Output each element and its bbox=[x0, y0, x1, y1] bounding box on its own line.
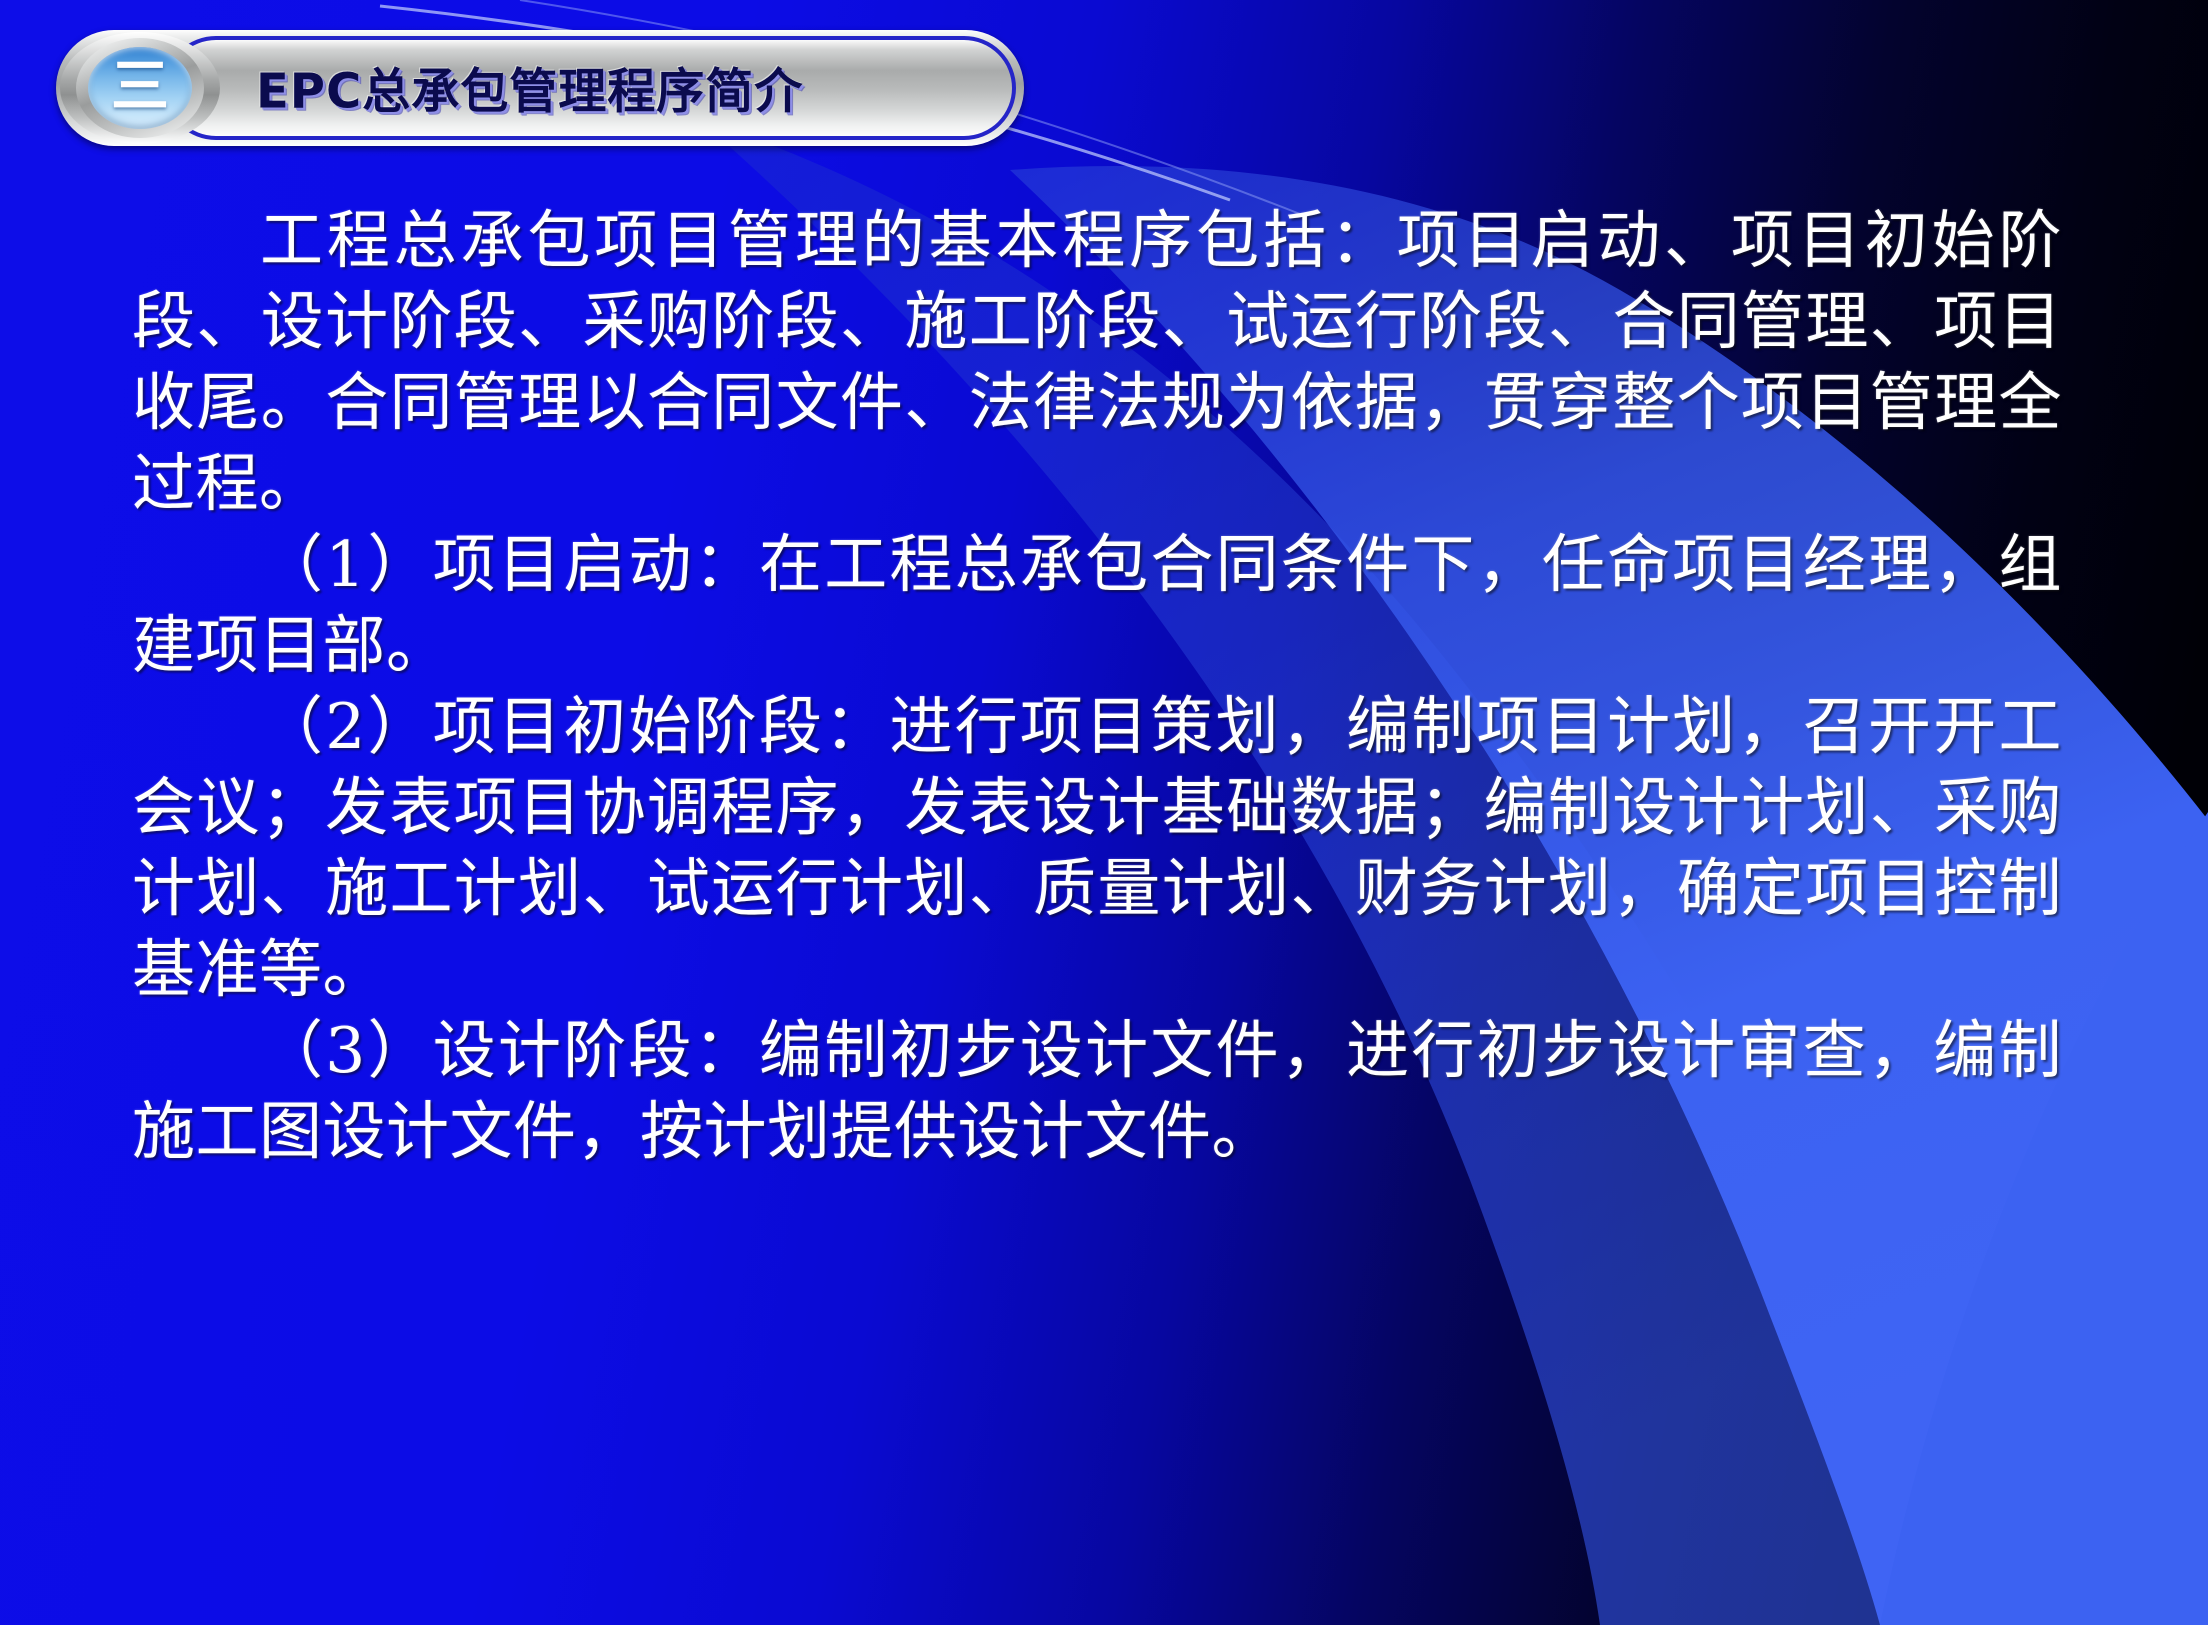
body-paragraph: （3）设计阶段：编制初步设计文件，进行初步设计审查，编制施工图设计文件，按计划提… bbox=[132, 1010, 2062, 1172]
slide-header: EPC总承包管理程序简介 三 bbox=[56, 30, 1024, 146]
slide-body: 工程总承包项目管理的基本程序包括：项目启动、项目初始阶段、设计阶段、采购阶段、施… bbox=[132, 200, 2062, 1172]
body-paragraph: （1）项目启动：在工程总承包合同条件下，任命项目经理，组建项目部。 bbox=[132, 524, 2062, 686]
presentation-slide: EPC总承包管理程序简介 三 工程总承包项目管理的基本程序包括：项目启动、项目初… bbox=[0, 0, 2208, 1625]
body-paragraph: （2）项目初始阶段：进行项目策划，编制项目计划，召开开工会议；发表项目协调程序，… bbox=[132, 686, 2062, 1010]
header-title-plate: EPC总承包管理程序简介 bbox=[164, 36, 1016, 140]
body-paragraph: 工程总承包项目管理的基本程序包括：项目启动、项目初始阶段、设计阶段、采购阶段、施… bbox=[132, 200, 2062, 524]
page-title: EPC总承包管理程序简介 bbox=[256, 52, 803, 122]
section-number-glyph: 三 bbox=[111, 57, 169, 115]
section-number-badge: 三 bbox=[88, 47, 192, 129]
